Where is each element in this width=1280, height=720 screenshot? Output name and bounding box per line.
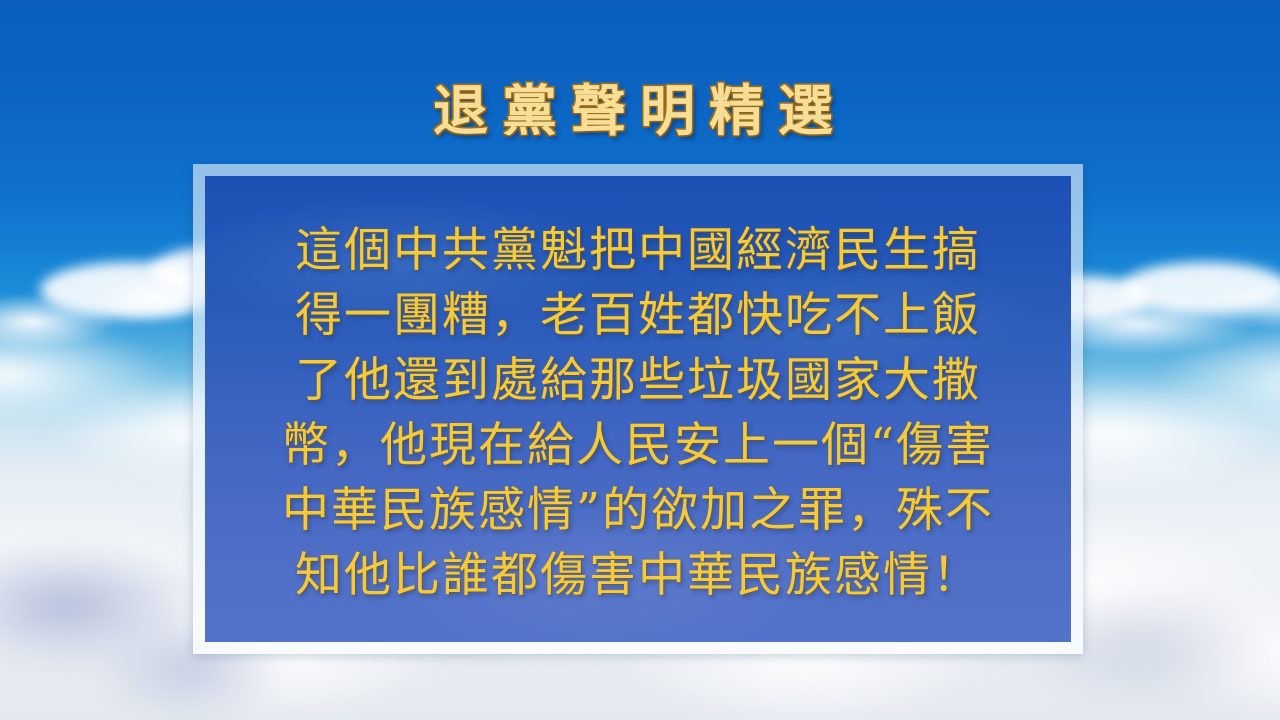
quote-line: 幣，他現在給人民安上一個“傷害: [235, 413, 1041, 478]
quote-panel-frame: 這個中共黨魁把中國經濟民生搞 得一團糟，老百姓都快吃不上飯 了他還到處給那些垃圾…: [193, 164, 1083, 654]
quote-line: 了他還到處給那些垃圾國家大撒: [235, 348, 1041, 413]
slide-canvas: 退黨聲明精選 這個中共黨魁把中國經濟民生搞 得一團糟，老百姓都快吃不上飯 了他還…: [0, 0, 1280, 720]
quote-line: 這個中共黨魁把中國經濟民生搞: [235, 218, 1041, 283]
page-title: 退黨聲明精選: [433, 66, 847, 146]
quote-line: 知他比誰都傷害中華民族感情！: [235, 543, 1041, 608]
title-area: 退黨聲明精選: [0, 66, 1280, 146]
quote-line: 得一團糟，老百姓都快吃不上飯: [235, 283, 1041, 348]
quote-text-block: 這個中共黨魁把中國經濟民生搞 得一團糟，老百姓都快吃不上飯 了他還到處給那些垃圾…: [205, 176, 1071, 608]
quote-panel: 這個中共黨魁把中國經濟民生搞 得一團糟，老百姓都快吃不上飯 了他還到處給那些垃圾…: [205, 176, 1071, 642]
quote-line: 中華民族感情”的欲加之罪，殊不: [235, 478, 1041, 543]
